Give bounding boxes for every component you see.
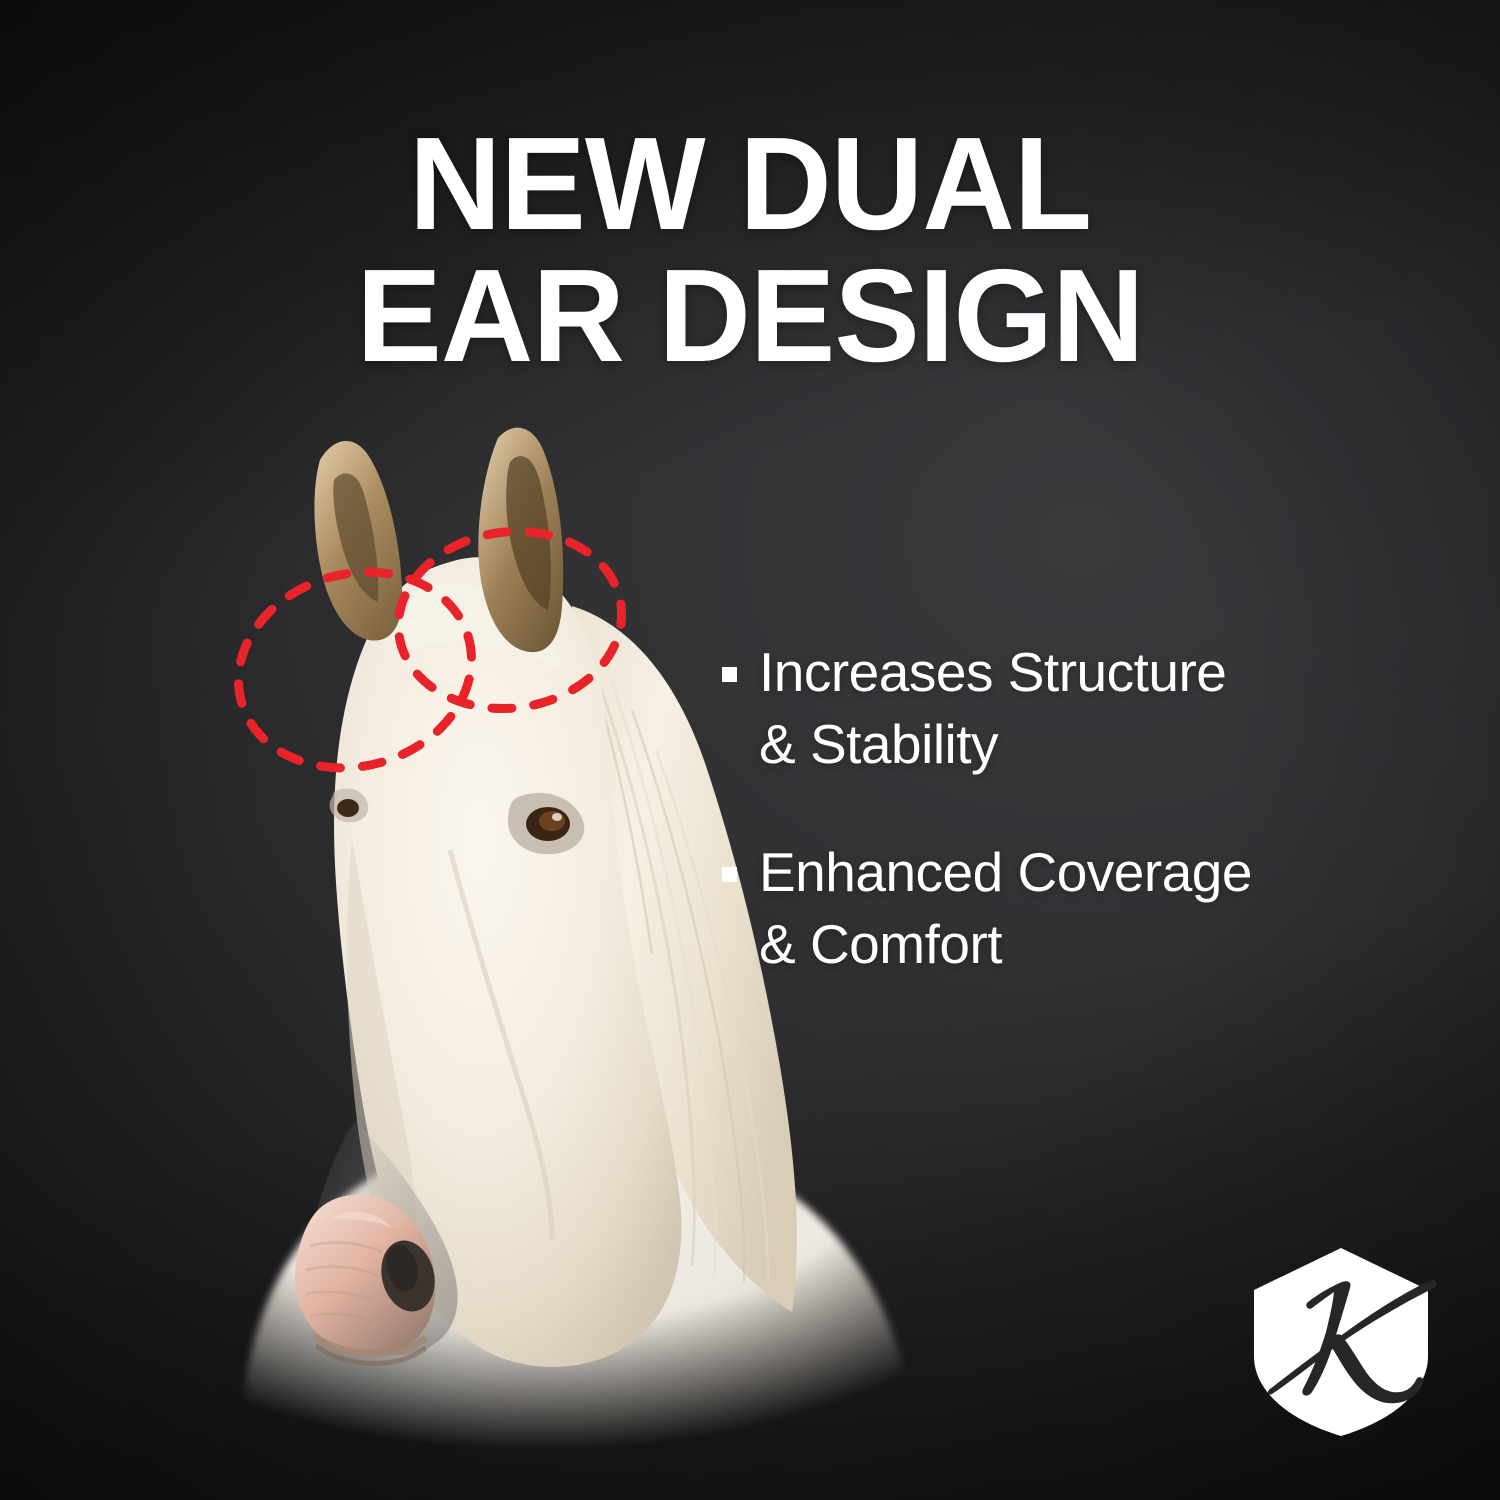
feature-line-2: & Stability	[759, 713, 998, 775]
feature-line-2: & Comfort	[759, 913, 1002, 975]
headline-line-2: EAR DESIGN	[23, 250, 1478, 382]
headline-line-1: NEW DUAL	[23, 118, 1478, 250]
feature-text: Enhanced Coverage & Comfort	[759, 836, 1252, 980]
brand-logo	[1246, 1244, 1436, 1440]
feature-line-1: Increases Structure	[759, 641, 1226, 703]
feature-line-1: Enhanced Coverage	[759, 841, 1252, 903]
square-bullet-icon	[722, 867, 737, 882]
list-item: Increases Structure & Stability	[722, 636, 1422, 780]
square-bullet-icon	[722, 667, 737, 682]
list-item: Enhanced Coverage & Comfort	[722, 836, 1422, 980]
promo-banner: NEW DUAL EAR DESIGN	[0, 0, 1500, 1500]
feature-text: Increases Structure & Stability	[759, 636, 1226, 780]
feature-list: Increases Structure & Stability Enhanced…	[722, 636, 1422, 980]
page-title: NEW DUAL EAR DESIGN	[23, 118, 1478, 382]
shield-k-logo-icon	[1246, 1244, 1436, 1440]
